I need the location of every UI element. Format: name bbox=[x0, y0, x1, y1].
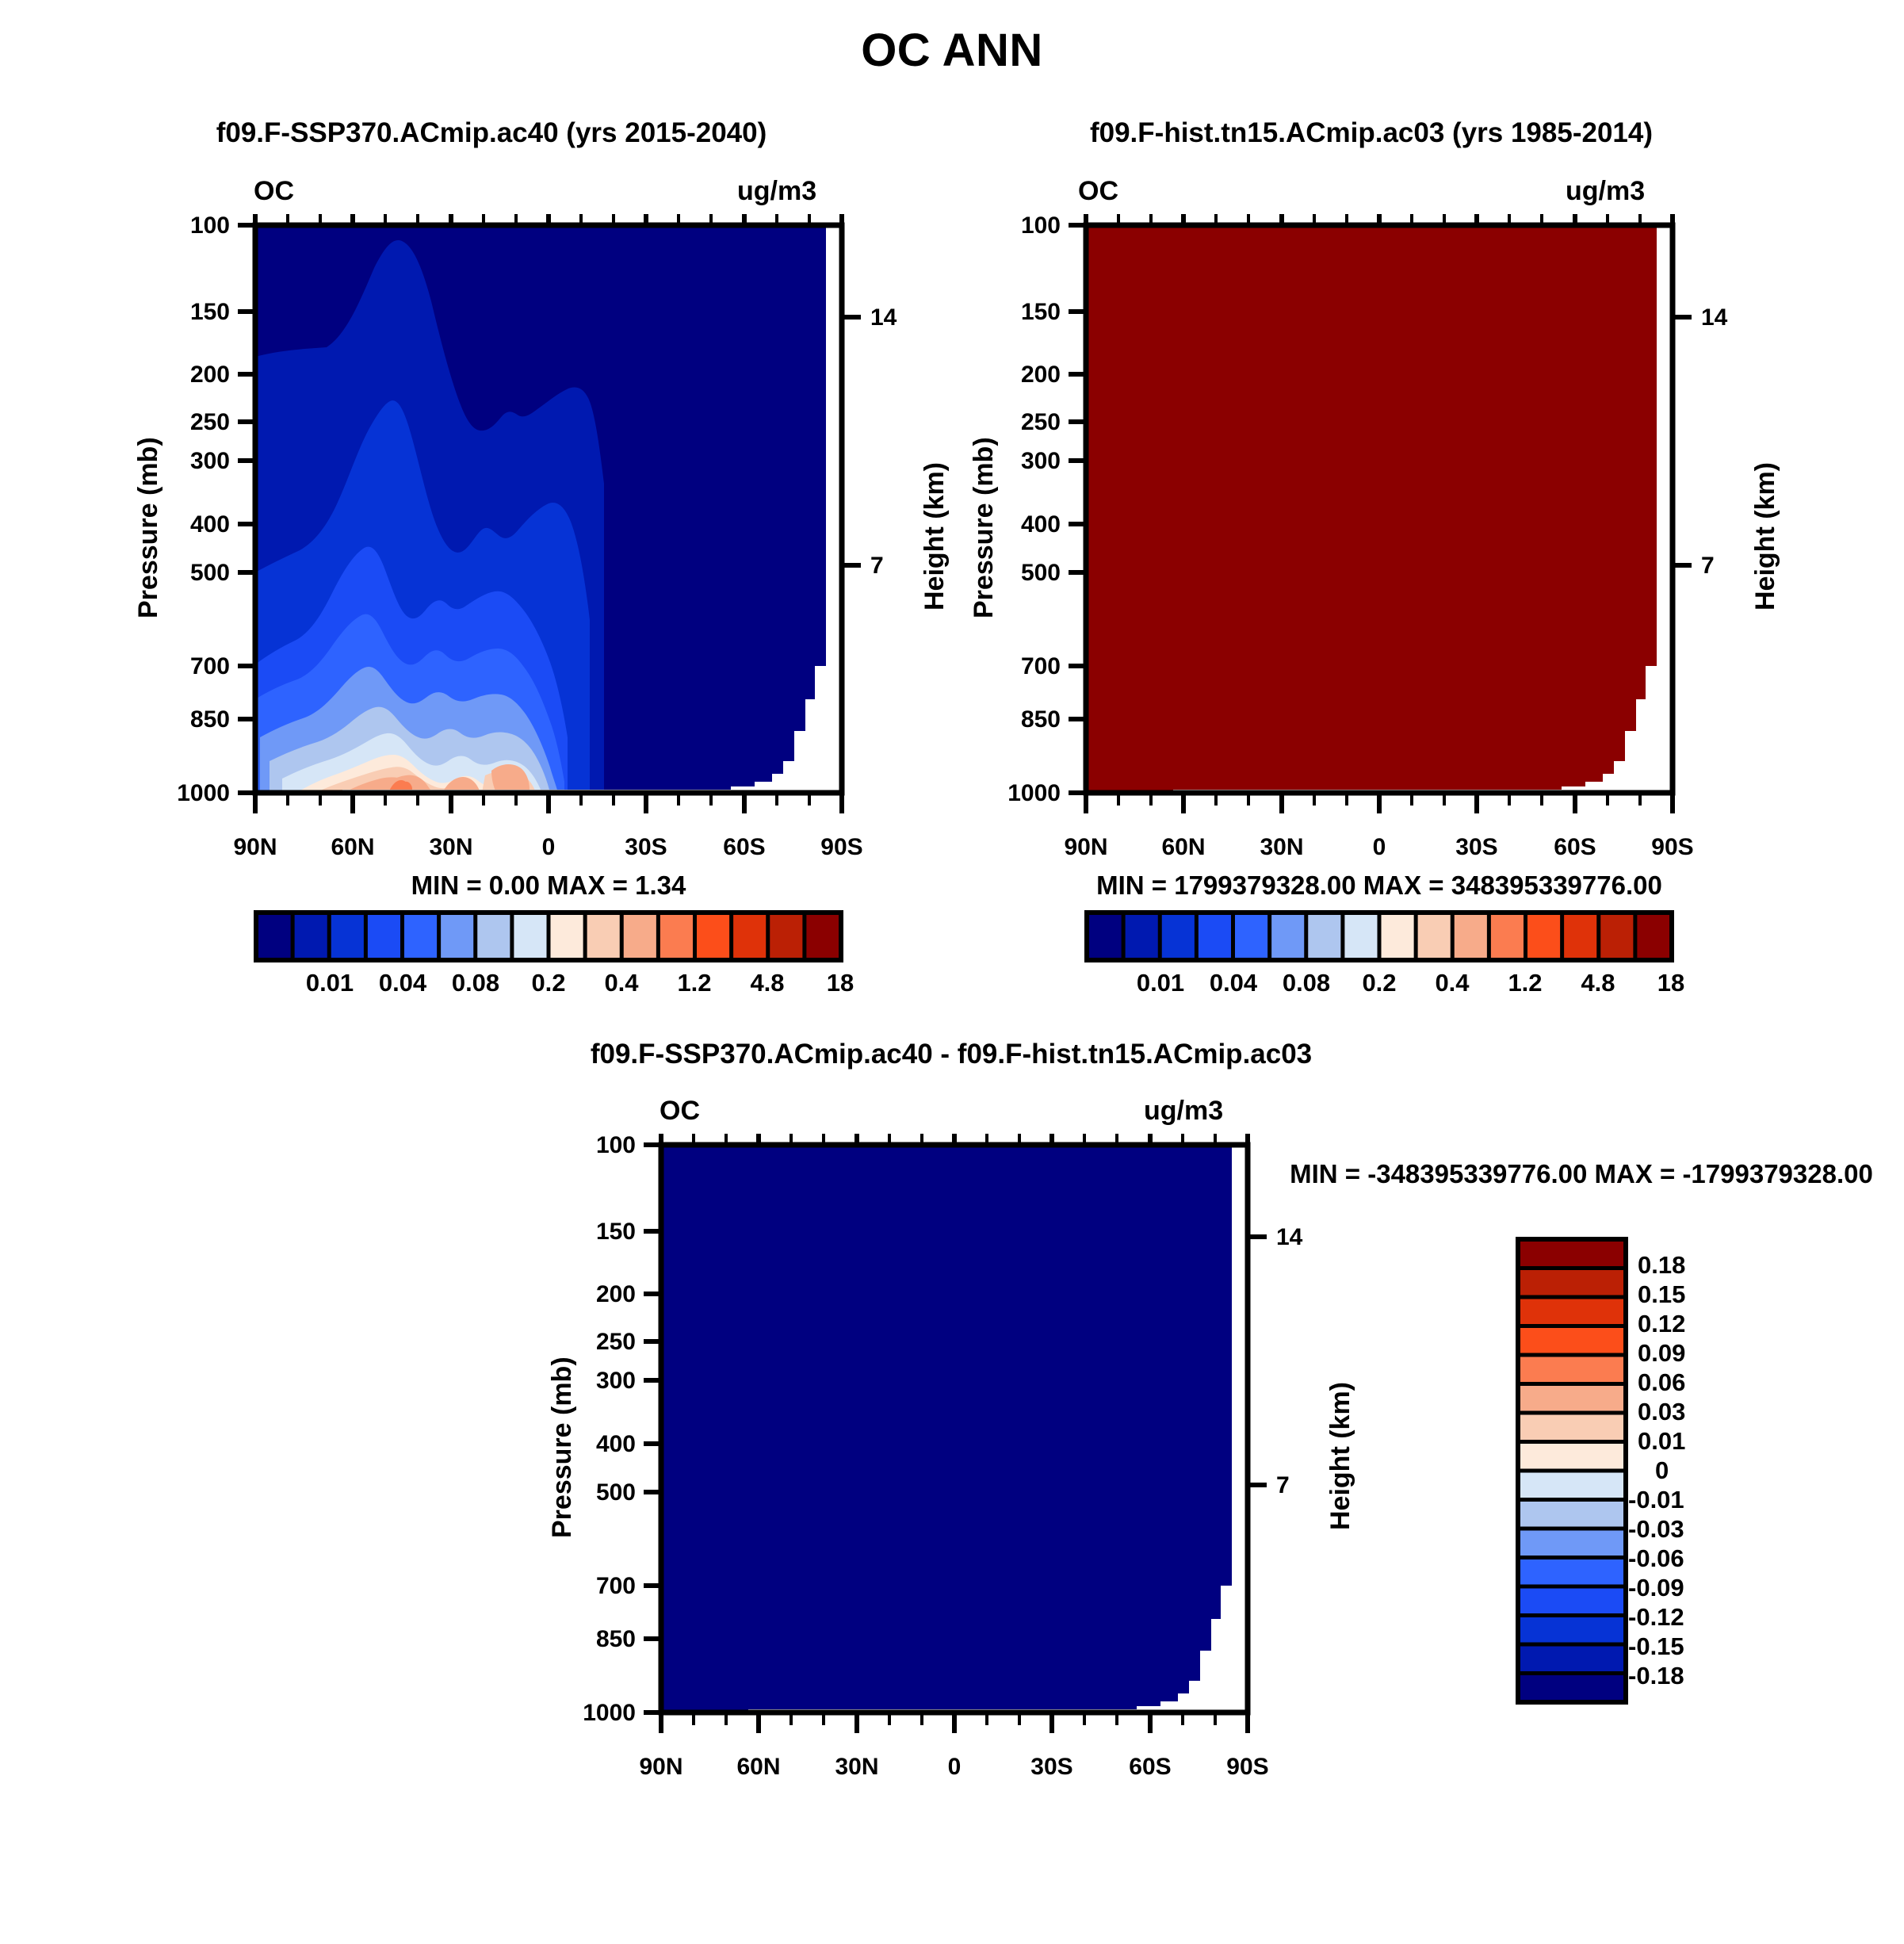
colorbar-cell bbox=[1196, 913, 1233, 960]
panel2-ytick-150: 150 bbox=[950, 299, 1061, 326]
panel2-minmax: MIN = 1799379328.00 MAX = 348395339776.0… bbox=[1062, 871, 1696, 901]
panel1-ytick-300: 300 bbox=[119, 448, 230, 475]
colorbar-cell bbox=[1452, 913, 1489, 960]
colorbar-cell bbox=[1518, 1529, 1626, 1558]
colorbar-cell bbox=[658, 913, 695, 960]
colorbar-cell bbox=[695, 913, 732, 960]
panel3-xtick-90S: 90S bbox=[1192, 1754, 1303, 1781]
colorbar-cell bbox=[1416, 913, 1453, 960]
cb3-label-2: 0.12 bbox=[1638, 1310, 1685, 1338]
colorbar-cell bbox=[585, 913, 622, 960]
cb1-label-6: 4.8 bbox=[728, 969, 807, 997]
colorbar-cell bbox=[1518, 1616, 1626, 1645]
panel3-ytick-300: 300 bbox=[525, 1368, 636, 1395]
panel2-y2tick-14: 14 bbox=[1701, 304, 1727, 331]
panel3-y2tick-7: 7 bbox=[1276, 1472, 1290, 1499]
colorbar-cell bbox=[1562, 913, 1600, 960]
panel1-ytick-1000: 1000 bbox=[111, 780, 230, 807]
panel1-xtick-60N: 60N bbox=[297, 834, 408, 861]
colorbar-cell bbox=[1518, 1558, 1626, 1587]
colorbar-cell bbox=[439, 913, 476, 960]
panel2-y2axis-title: Height (km) bbox=[1750, 462, 1781, 610]
colorbar-cell bbox=[1233, 913, 1271, 960]
colorbar-cell bbox=[403, 913, 440, 960]
colorbar-cell bbox=[549, 913, 586, 960]
colorbar-cell bbox=[365, 913, 403, 960]
panel1-units-label: ug/m3 bbox=[737, 176, 816, 207]
panel2-units-label: ug/m3 bbox=[1566, 176, 1645, 207]
colorbar-cell bbox=[1599, 913, 1636, 960]
panel2-ytick-1000: 1000 bbox=[942, 780, 1061, 807]
panel2-ytick-300: 300 bbox=[950, 448, 1061, 475]
panel1-ytick-200: 200 bbox=[119, 362, 230, 388]
panel1-xtick-60S: 60S bbox=[689, 834, 800, 861]
colorbar-cell bbox=[1518, 1442, 1626, 1471]
panel1-xtick-0: 0 bbox=[493, 834, 604, 861]
colorbar-absolute-left[interactable] bbox=[254, 910, 843, 962]
colorbar-cell bbox=[476, 913, 513, 960]
panel2-xtick-90S: 90S bbox=[1617, 834, 1728, 861]
panel1-ytick-500: 500 bbox=[119, 560, 230, 587]
cb2-label-3: 0.2 bbox=[1340, 969, 1419, 997]
colorbar-cell bbox=[621, 913, 659, 960]
cb1-label-1: 0.04 bbox=[363, 969, 442, 997]
panel1-ytick-850: 850 bbox=[119, 706, 230, 733]
panel3-xtick-30N: 30N bbox=[801, 1754, 912, 1781]
panel1-variable-label: OC bbox=[254, 176, 294, 207]
panel2-xtick-90N: 90N bbox=[1030, 834, 1141, 861]
panel1-ytick-150: 150 bbox=[119, 299, 230, 326]
panel2-y2tick-7: 7 bbox=[1701, 553, 1715, 580]
panel3-ytick-250: 250 bbox=[525, 1329, 636, 1356]
colorbar-absolute-left-labels: 0.01 0.04 0.08 0.2 0.4 1.2 4.8 18 bbox=[254, 969, 843, 1008]
panel3-ytick-700: 700 bbox=[525, 1573, 636, 1600]
panel3-y2axis-title: Height (km) bbox=[1325, 1382, 1356, 1530]
panel1-y2tick-7: 7 bbox=[870, 553, 884, 580]
panel2-ytick-200: 200 bbox=[950, 362, 1061, 388]
panel3-ytick-850: 850 bbox=[525, 1626, 636, 1653]
colorbar-cell bbox=[1518, 1500, 1626, 1529]
colorbar-cell bbox=[292, 913, 330, 960]
cb3-label-6: 0.01 bbox=[1638, 1427, 1685, 1456]
cb1-label-5: 1.2 bbox=[655, 969, 734, 997]
panel2-ytick-400: 400 bbox=[950, 511, 1061, 538]
panel2-plot[interactable] bbox=[1007, 214, 1704, 817]
cb3-label-7: 0 bbox=[1655, 1456, 1669, 1485]
colorbar-cell bbox=[1518, 1239, 1626, 1269]
colorbar-cell bbox=[1518, 1326, 1626, 1356]
panel3-ytick-150: 150 bbox=[525, 1219, 636, 1246]
panel3-ytick-100: 100 bbox=[525, 1132, 636, 1159]
colorbar-cell bbox=[768, 913, 805, 960]
panel2-ytick-500: 500 bbox=[950, 560, 1061, 587]
colorbar-cell bbox=[1518, 1297, 1626, 1326]
panel2-xtick-30N: 30N bbox=[1226, 834, 1337, 861]
colorbar-cell bbox=[805, 913, 842, 960]
panel1-xtick-30N: 30N bbox=[396, 834, 507, 861]
panel1-xtick-90N: 90N bbox=[200, 834, 311, 861]
cb3-label-0: 0.18 bbox=[1638, 1251, 1685, 1280]
panel2-xtick-60N: 60N bbox=[1128, 834, 1239, 861]
panel3-plot[interactable] bbox=[582, 1134, 1279, 1736]
panel-title-top-left: f09.F-SSP370.ACmip.ac40 (yrs 2015-2040) bbox=[95, 117, 888, 149]
panel3-xtick-30S: 30S bbox=[996, 1754, 1107, 1781]
cb2-label-1: 0.04 bbox=[1194, 969, 1273, 997]
colorbar-cell bbox=[1087, 913, 1124, 960]
colorbar-cell bbox=[256, 913, 293, 960]
cb1-label-3: 0.2 bbox=[509, 969, 588, 997]
cb1-label-7: 18 bbox=[801, 969, 880, 997]
panel2-ytick-850: 850 bbox=[950, 706, 1061, 733]
colorbar-cell bbox=[329, 913, 366, 960]
cb1-label-4: 0.4 bbox=[582, 969, 661, 997]
panel3-xtick-60N: 60N bbox=[703, 1754, 814, 1781]
panel2-xtick-0: 0 bbox=[1324, 834, 1435, 861]
panel3-variable-label: OC bbox=[660, 1096, 700, 1127]
panel2-ytick-100: 100 bbox=[950, 212, 1061, 239]
panel3-ytick-200: 200 bbox=[525, 1281, 636, 1308]
colorbar-cell bbox=[1518, 1384, 1626, 1414]
panel-title-difference: f09.F-SSP370.ACmip.ac40 - f09.F-hist.tn1… bbox=[396, 1039, 1506, 1070]
cb3-label-11: -0.09 bbox=[1628, 1574, 1684, 1602]
colorbar-cell bbox=[1518, 1269, 1626, 1298]
cb3-label-3: 0.09 bbox=[1638, 1339, 1685, 1368]
cb1-label-0: 0.01 bbox=[290, 969, 369, 997]
colorbar-cell bbox=[1526, 913, 1563, 960]
panel3-y2tick-14: 14 bbox=[1276, 1224, 1302, 1251]
cb3-label-5: 0.03 bbox=[1638, 1398, 1685, 1426]
colorbar-cell bbox=[1635, 913, 1673, 960]
colorbar-absolute-right-labels: 0.01 0.04 0.08 0.2 0.4 1.2 4.8 18 bbox=[1084, 969, 1674, 1008]
colorbar-cell bbox=[1518, 1586, 1626, 1616]
cb2-label-4: 0.4 bbox=[1413, 969, 1492, 997]
cb3-label-8: -0.01 bbox=[1628, 1486, 1684, 1514]
cb3-label-10: -0.06 bbox=[1628, 1544, 1684, 1573]
colorbar-cell bbox=[1518, 1644, 1626, 1674]
cb1-label-2: 0.08 bbox=[436, 969, 515, 997]
cb3-label-4: 0.06 bbox=[1638, 1368, 1685, 1397]
panel2-ytick-250: 250 bbox=[950, 409, 1061, 436]
panel3-xtick-90N: 90N bbox=[606, 1754, 717, 1781]
colorbar-cell bbox=[1306, 913, 1344, 960]
cb3-label-13: -0.15 bbox=[1628, 1632, 1684, 1661]
cb3-label-9: -0.03 bbox=[1628, 1515, 1684, 1544]
colorbar-cell bbox=[732, 913, 769, 960]
cb3-label-14: -0.18 bbox=[1628, 1662, 1684, 1690]
panel1-plot[interactable] bbox=[176, 214, 874, 817]
colorbar-cell bbox=[1343, 913, 1380, 960]
cb2-label-7: 18 bbox=[1631, 969, 1711, 997]
figure-title: OC ANN bbox=[0, 24, 1904, 77]
colorbar-cell bbox=[512, 913, 549, 960]
panel1-y2axis-title: Height (km) bbox=[920, 462, 950, 610]
panel-title-top-right: f09.F-hist.tn15.ACmip.ac03 (yrs 1985-201… bbox=[912, 117, 1831, 149]
panel3-xtick-60S: 60S bbox=[1095, 1754, 1206, 1781]
colorbar-cell bbox=[1379, 913, 1417, 960]
panel2-ytick-700: 700 bbox=[950, 653, 1061, 680]
panel1-xtick-30S: 30S bbox=[591, 834, 702, 861]
cb2-label-6: 4.8 bbox=[1558, 969, 1638, 997]
colorbar-difference[interactable] bbox=[1516, 1237, 1628, 1705]
panel1-ytick-100: 100 bbox=[119, 212, 230, 239]
cb3-label-1: 0.15 bbox=[1638, 1280, 1685, 1309]
cb2-label-2: 0.08 bbox=[1267, 969, 1346, 997]
panel3-xtick-0: 0 bbox=[899, 1754, 1010, 1781]
colorbar-cell bbox=[1123, 913, 1160, 960]
panel1-ytick-400: 400 bbox=[119, 511, 230, 538]
panel2-xtick-30S: 30S bbox=[1421, 834, 1532, 861]
colorbar-cell bbox=[1518, 1413, 1626, 1442]
panel3-ytick-500: 500 bbox=[525, 1479, 636, 1506]
colorbar-cell bbox=[1518, 1471, 1626, 1500]
colorbar-absolute-right[interactable] bbox=[1084, 910, 1674, 962]
panel2-variable-label: OC bbox=[1078, 176, 1118, 207]
panel1-ytick-250: 250 bbox=[119, 409, 230, 436]
panel1-y2tick-14: 14 bbox=[870, 304, 897, 331]
panel3-minmax: MIN = -348395339776.00 MAX = -1799379328… bbox=[1268, 1159, 1894, 1189]
panel3-ytick-1000: 1000 bbox=[517, 1700, 636, 1727]
panel1-xtick-90S: 90S bbox=[786, 834, 897, 861]
colorbar-cell bbox=[1270, 913, 1307, 960]
cb3-label-12: -0.12 bbox=[1628, 1603, 1684, 1632]
colorbar-difference-labels: 0.18 0.15 0.12 0.09 0.06 0.03 0.01 0 -0.… bbox=[1638, 1237, 1812, 1705]
panel3-units-label: ug/m3 bbox=[1144, 1096, 1223, 1127]
colorbar-cell bbox=[1160, 913, 1197, 960]
cb2-label-5: 1.2 bbox=[1485, 969, 1565, 997]
panel3-ytick-400: 400 bbox=[525, 1431, 636, 1458]
panel1-minmax: MIN = 0.00 MAX = 1.34 bbox=[255, 871, 842, 901]
colorbar-cell bbox=[1489, 913, 1526, 960]
panel2-xtick-60S: 60S bbox=[1520, 834, 1631, 861]
cb2-label-0: 0.01 bbox=[1121, 969, 1200, 997]
colorbar-cell bbox=[1518, 1674, 1626, 1703]
colorbar-cell bbox=[1518, 1355, 1626, 1384]
panel1-ytick-700: 700 bbox=[119, 653, 230, 680]
